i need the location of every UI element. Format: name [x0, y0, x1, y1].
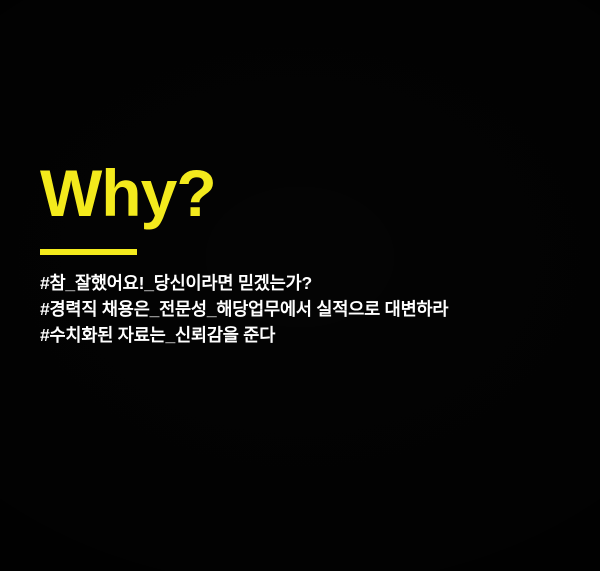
- list-item: #참_잘했어요!_당신이라면 믿겠는가?: [40, 270, 585, 296]
- slide-content: Why? #참_잘했어요!_당신이라면 믿겠는가? #경력직 채용은_전문성_해…: [40, 160, 585, 348]
- page-title: Why?: [40, 160, 585, 226]
- list-item: #경력직 채용은_전문성_해당업무에서 실적으로 대변하라: [40, 296, 585, 322]
- list-item: #수치화된 자료는_신뢰감을 준다: [40, 322, 585, 348]
- accent-divider: [40, 249, 137, 255]
- hashtag-list: #참_잘했어요!_당신이라면 믿겠는가? #경력직 채용은_전문성_해당업무에서…: [40, 270, 585, 348]
- slide-canvas: Why? #참_잘했어요!_당신이라면 믿겠는가? #경력직 채용은_전문성_해…: [0, 0, 600, 571]
